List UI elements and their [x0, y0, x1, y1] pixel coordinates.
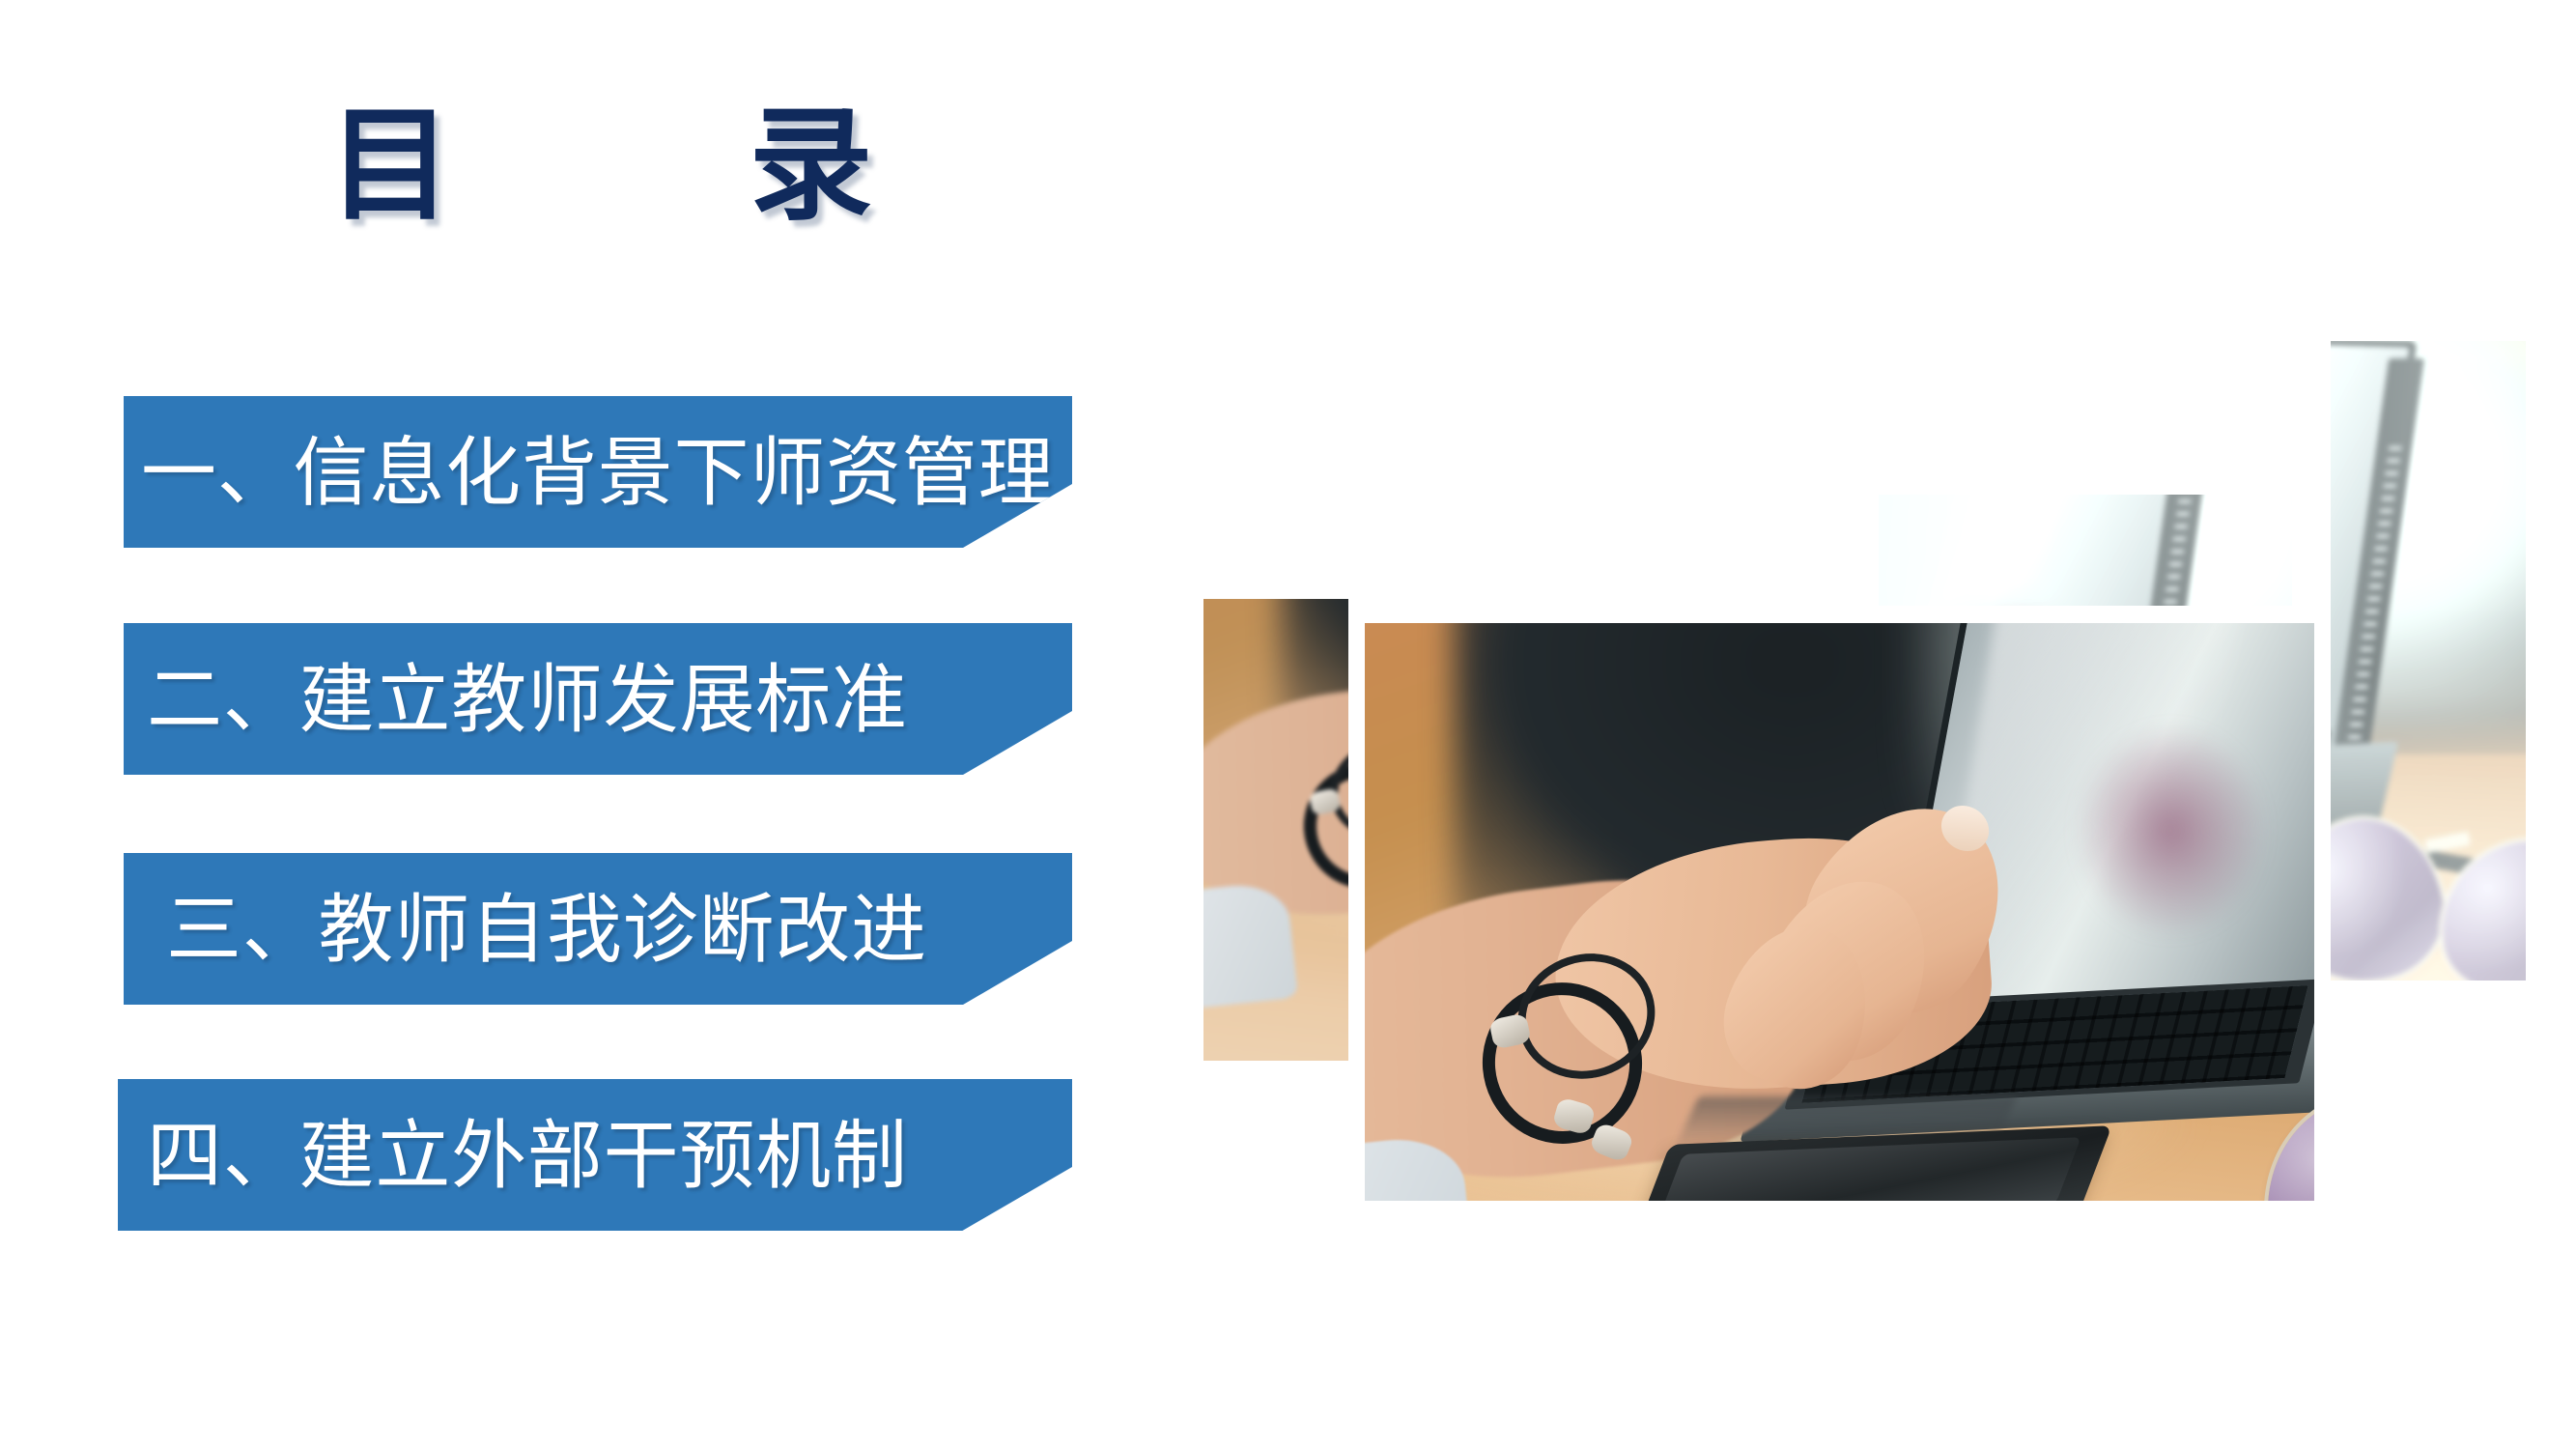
photo-scene — [2331, 341, 2526, 981]
agenda-item-3[interactable]: 三、教师自我诊断改进 — [124, 853, 1072, 1005]
photo-panel-top-band — [1879, 495, 2292, 606]
photo-panel-right-tall — [2331, 341, 2526, 981]
agenda-item-1[interactable]: 一、信息化背景下师资管理 — [124, 396, 1072, 548]
agenda-item-4[interactable]: 四、建立外部干预机制 — [118, 1079, 1072, 1231]
slide-canvas: 目 录 一、信息化背景下师资管理 二、建立教师发展标准 三、教师自我诊断改进 四… — [0, 0, 2576, 1450]
photo-panel-left-strip — [1203, 599, 1348, 1061]
photo-panel-main — [1365, 623, 2314, 1201]
agenda-item-2-label: 二、建立教师发展标准 — [124, 662, 908, 737]
agenda-item-2[interactable]: 二、建立教师发展标准 — [124, 623, 1072, 775]
agenda-item-4-label: 四、建立外部干预机制 — [118, 1118, 908, 1193]
page-title: 目 录 — [328, 104, 875, 228]
photo-scene — [1365, 623, 2314, 1201]
photo-scene — [1879, 495, 2292, 606]
photo-scene — [1203, 599, 1348, 1061]
agenda-item-1-label: 一、信息化背景下师资管理 — [124, 435, 1054, 510]
agenda-item-3-label: 三、教师自我诊断改进 — [124, 892, 927, 967]
